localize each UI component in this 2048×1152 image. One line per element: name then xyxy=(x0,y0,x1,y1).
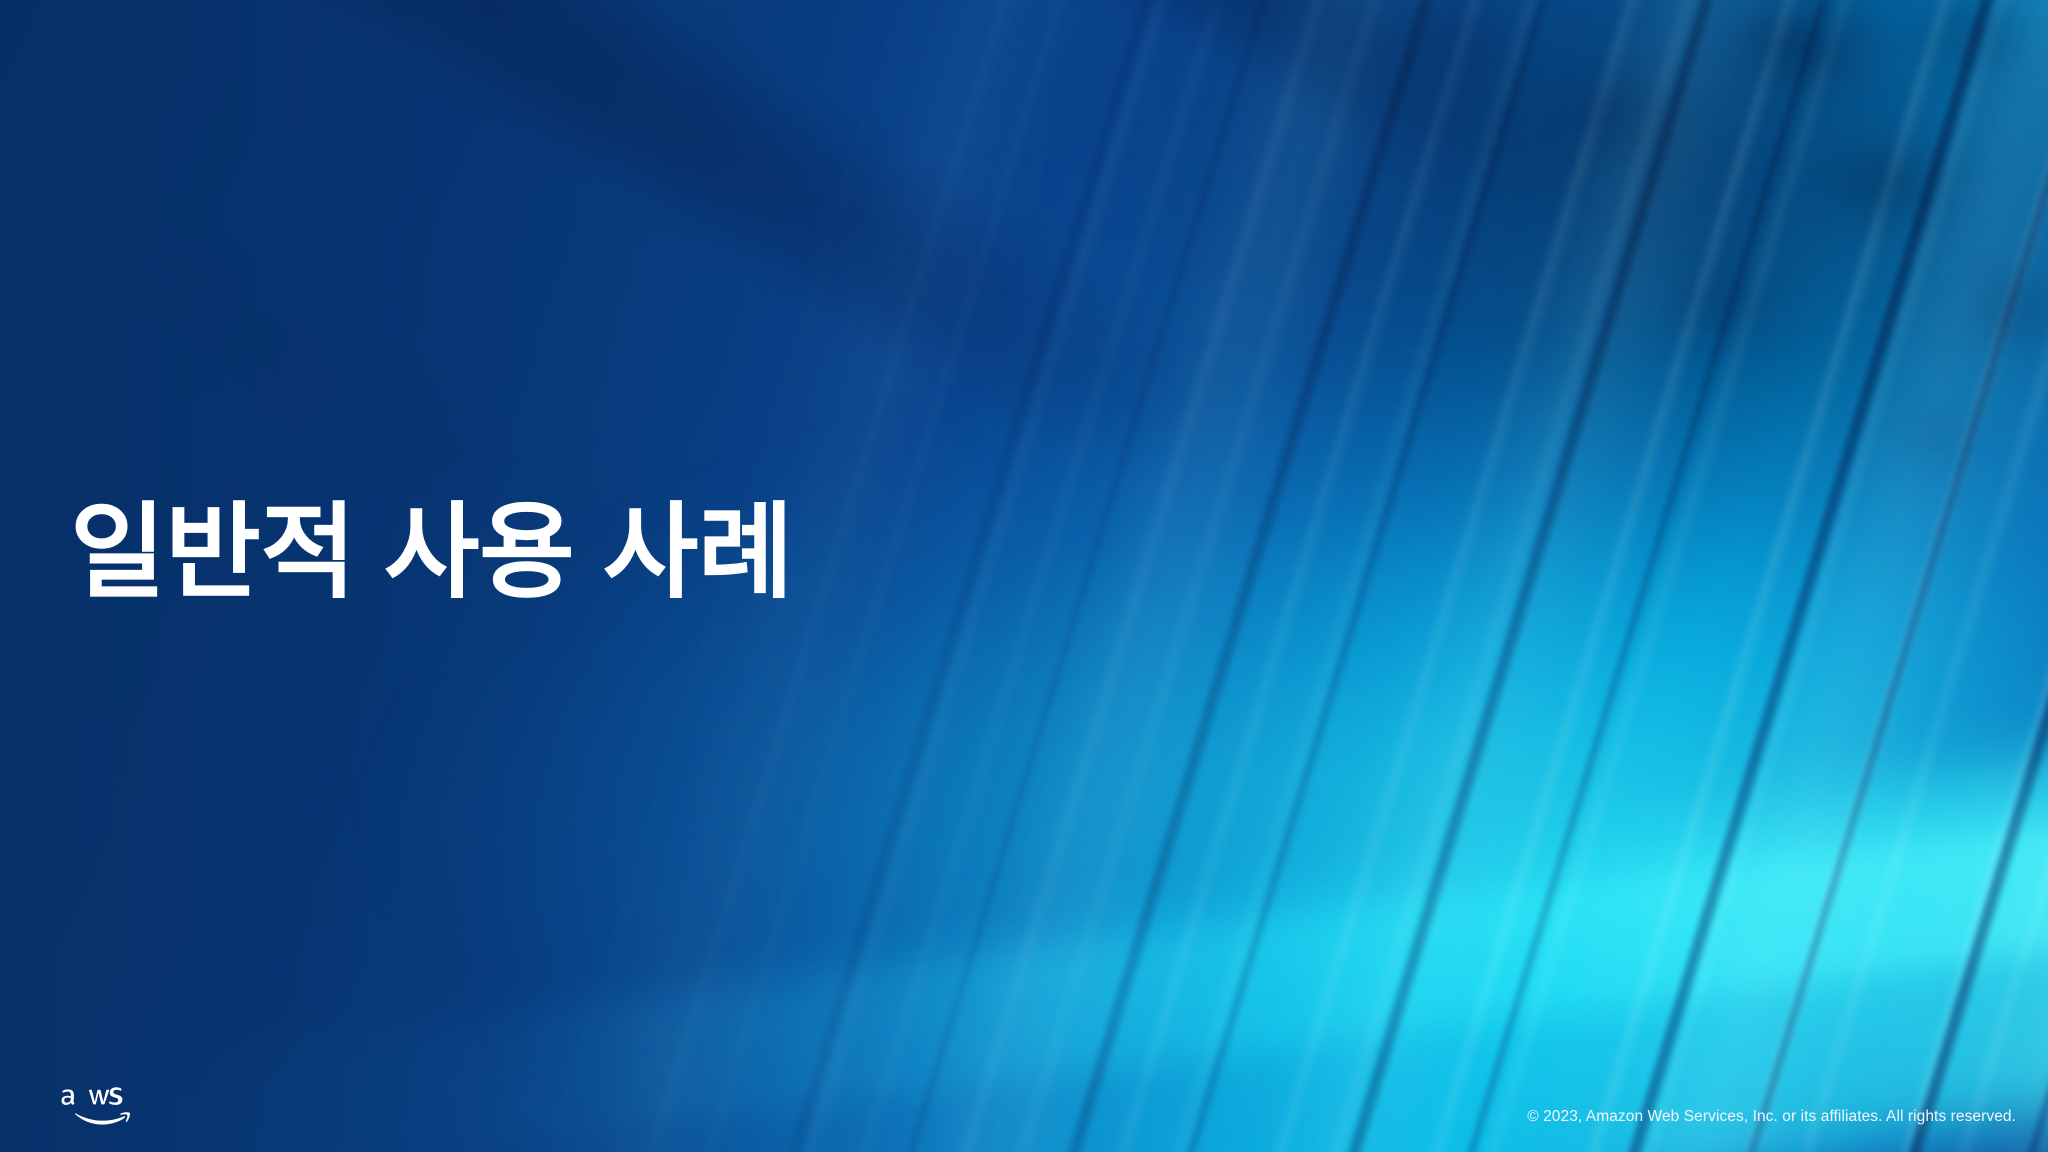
title-slide: 일반적 사용 사례 © 2023, Amazon Web Services, I… xyxy=(0,0,2048,1152)
aws-wordmark-glyphs xyxy=(62,1087,123,1105)
page-title: 일반적 사용 사례 xyxy=(70,492,793,615)
aws-logo xyxy=(56,1078,132,1128)
copyright-notice: © 2023, Amazon Web Services, Inc. or its… xyxy=(1527,1108,2016,1126)
amazon-smile-swoosh xyxy=(75,1112,130,1124)
